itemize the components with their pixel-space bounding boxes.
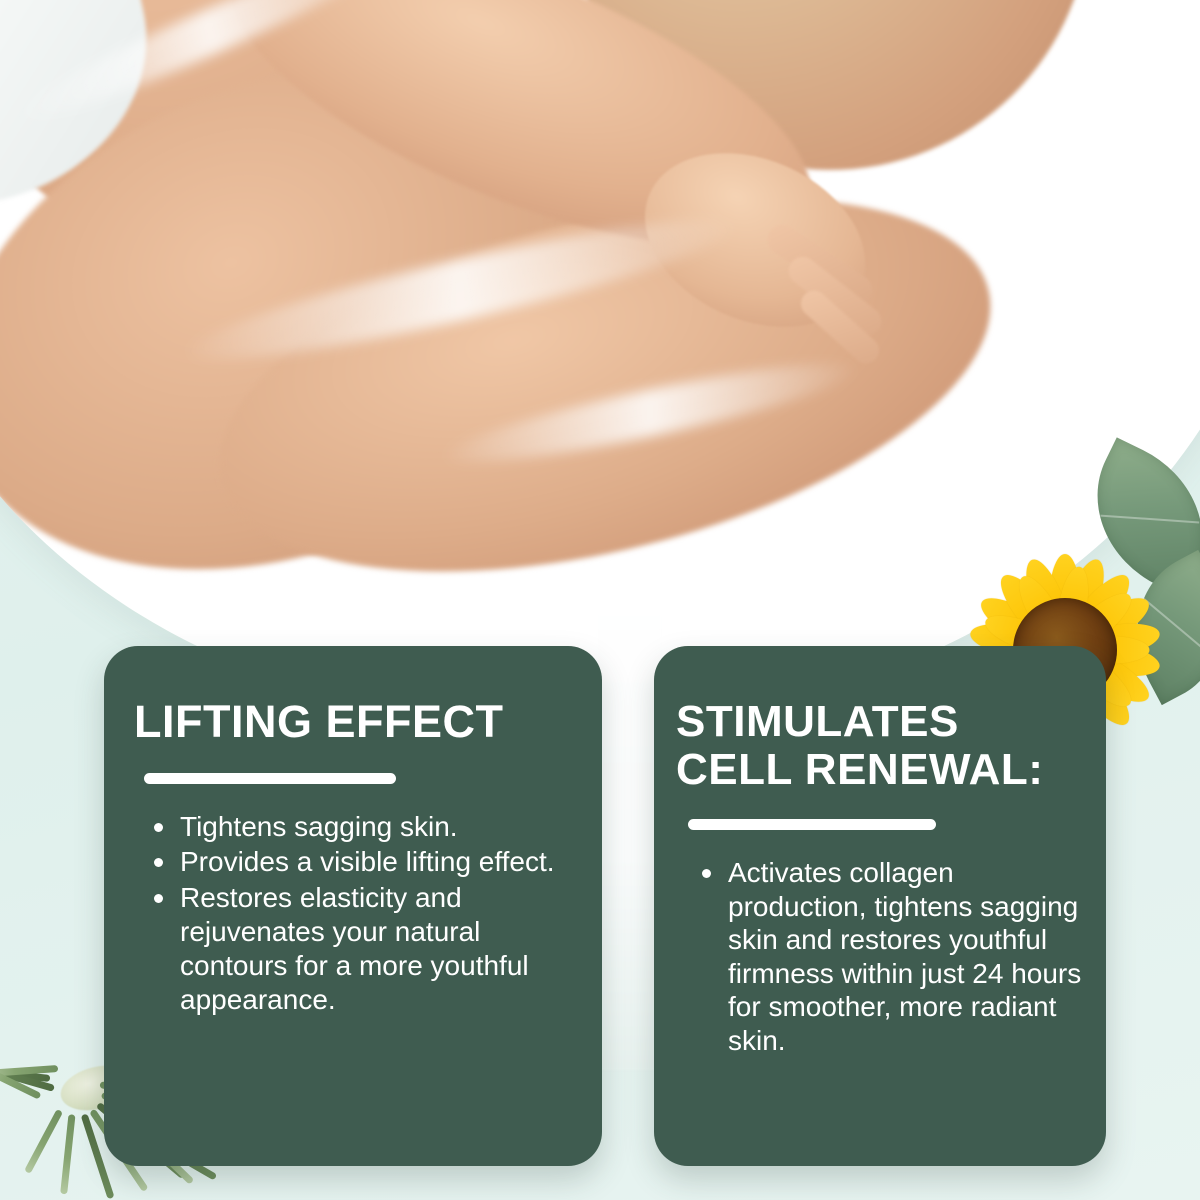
card-lifting-effect[interactable]: LIFTING EFFECT Tightens sagging skin. Pr…	[104, 646, 602, 1166]
benefit-list: Tightens sagging skin. Provides a visibl…	[134, 810, 572, 1017]
photo-gap-fill	[596, 600, 662, 1070]
card-title: STIMULATES CELL RENEWAL:	[676, 698, 1084, 793]
list-item: Restores elasticity and rejuvenates your…	[180, 881, 572, 1017]
card-stimulates-cell-renewal[interactable]: STIMULATES CELL RENEWAL: Activates colla…	[654, 646, 1106, 1166]
promo-poster: LIFTING EFFECT Tightens sagging skin. Pr…	[0, 0, 1200, 1200]
benefit-list: Activates collagen production, tightens …	[676, 856, 1084, 1058]
title-divider	[688, 819, 936, 830]
list-item: Tightens sagging skin.	[180, 810, 572, 844]
list-item: Provides a visible lifting effect.	[180, 845, 572, 879]
list-item: Activates collagen production, tightens …	[728, 856, 1084, 1058]
title-divider	[144, 773, 396, 784]
card-title: LIFTING EFFECT	[134, 698, 572, 747]
